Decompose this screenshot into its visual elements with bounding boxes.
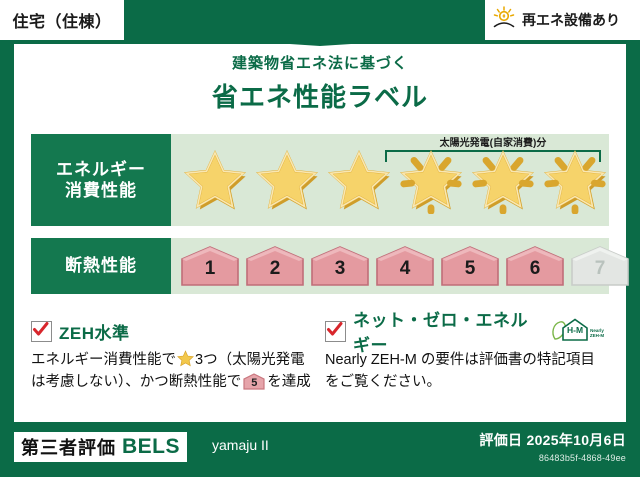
insulation-badge-active: 6: [504, 245, 566, 287]
building-type-tag: 住宅（住棟）: [0, 0, 124, 40]
bels-en-label: BELS: [122, 435, 180, 459]
insulation-badge-inline: 5: [243, 373, 265, 390]
note-zeh-text-3: を達成: [267, 374, 311, 390]
insulation-grade-list: 1 2 3 4 5 6: [171, 238, 609, 294]
sun-icon: [491, 5, 517, 36]
star-rating: [171, 134, 609, 226]
insulation-label-text: 断熱性能: [65, 255, 137, 276]
insulation-badge-value: 3: [309, 245, 371, 287]
evaluation-date: 評価日 2025年10月6日: [479, 430, 626, 450]
renewable-equipment-label: 再エネ設備あり: [522, 10, 620, 30]
footer-bar: 第三者評価 BELS yamaju II 評価日 2025年10月6日 8648…: [0, 426, 640, 477]
star-filled: [325, 146, 393, 214]
building-type-label: 住宅（住棟）: [12, 8, 111, 32]
evaluation-id: 86483b5f-4868-49ee: [479, 453, 626, 463]
project-name: yamaju II: [212, 437, 269, 453]
note-zeh-title: ZEH水準: [59, 319, 130, 344]
note-nze-head: ネット・ゼロ・エネルギー H-M Nearly ZEH-M: [325, 318, 609, 344]
energy-label-line2: 消費性能: [65, 180, 137, 201]
insulation-performance-row: 断熱性能 1 2 3 4: [31, 238, 609, 294]
title-main: 省エネ性能ラベル: [0, 77, 640, 114]
star-filled: [181, 146, 249, 214]
insulation-performance-label: 断熱性能: [31, 238, 171, 294]
top-bar: 住宅（住棟） 再エネ設備あり: [0, 0, 640, 44]
insulation-badge-value: 4: [374, 245, 436, 287]
title-block: 建築物省エネ法に基づく 省エネ性能ラベル: [0, 52, 640, 114]
zeh-m-house-logo: H-M Nearly ZEH-M: [551, 315, 609, 348]
bels-jp-label: 第三者評価: [21, 434, 116, 460]
star-solar: [541, 146, 609, 214]
insulation-badge-value: 1: [179, 245, 241, 287]
star-filled: [253, 146, 321, 214]
svg-text:H-M: H-M: [567, 325, 583, 335]
energy-performance-label: エネルギー 消費性能: [31, 134, 171, 226]
star-solar: [469, 146, 537, 214]
star-solar: [397, 146, 465, 214]
note-zeh-head: ZEH水準: [31, 318, 315, 344]
insulation-badge-active: 3: [309, 245, 371, 287]
energy-label-line1: エネルギー: [56, 159, 146, 180]
star-icon: [177, 350, 194, 367]
note-nze-body: Nearly ZEH-M の要件は評価書の特記項目をご覧ください。: [325, 349, 609, 394]
insulation-badge-inactive: 7: [569, 245, 631, 287]
insulation-performance-body: 1 2 3 4 5 6: [171, 238, 609, 294]
notes-section: ZEH水準 エネルギー消費性能で3つ（太陽光発電は考慮しない）、かつ断熱性能で5…: [31, 318, 609, 414]
insulation-badge-value: 5: [439, 245, 501, 287]
insulation-badge-value: 6: [504, 245, 566, 287]
check-icon: [325, 321, 346, 342]
insulation-badge-active: 1: [179, 245, 241, 287]
check-icon: [31, 321, 52, 342]
energy-performance-row: エネルギー 消費性能 太陽光発電(自家消費)分: [31, 134, 609, 226]
insulation-badge-value: 7: [569, 245, 631, 287]
renewable-equipment-tag: 再エネ設備あり: [485, 0, 640, 40]
insulation-badge-inline-value: 5: [243, 373, 265, 390]
energy-performance-body: 太陽光発電(自家消費)分: [171, 134, 609, 226]
title-subtitle: 建築物省エネ法に基づく: [0, 52, 640, 73]
bels-badge: 第三者評価 BELS: [14, 432, 187, 462]
energy-label-root: 住宅（住棟） 再エネ設備あり: [0, 0, 640, 477]
insulation-badge-active: 2: [244, 245, 306, 287]
insulation-badge-value: 2: [244, 245, 306, 287]
note-net-zero-energy: ネット・ゼロ・エネルギー H-M Nearly ZEH-M Nearly ZEH…: [325, 318, 609, 414]
note-zeh-text-1: エネルギー消費性能で: [31, 352, 176, 368]
insulation-badge-active: 4: [374, 245, 436, 287]
svg-text:ZEH-M: ZEH-M: [590, 333, 604, 338]
insulation-badge-active: 5: [439, 245, 501, 287]
evaluation-info: 評価日 2025年10月6日 86483b5f-4868-49ee: [479, 430, 626, 463]
note-zeh-body: エネルギー消費性能で3つ（太陽光発電は考慮しない）、かつ断熱性能で5を達成: [31, 349, 315, 394]
note-zeh-standard: ZEH水準 エネルギー消費性能で3つ（太陽光発電は考慮しない）、かつ断熱性能で5…: [31, 318, 315, 414]
